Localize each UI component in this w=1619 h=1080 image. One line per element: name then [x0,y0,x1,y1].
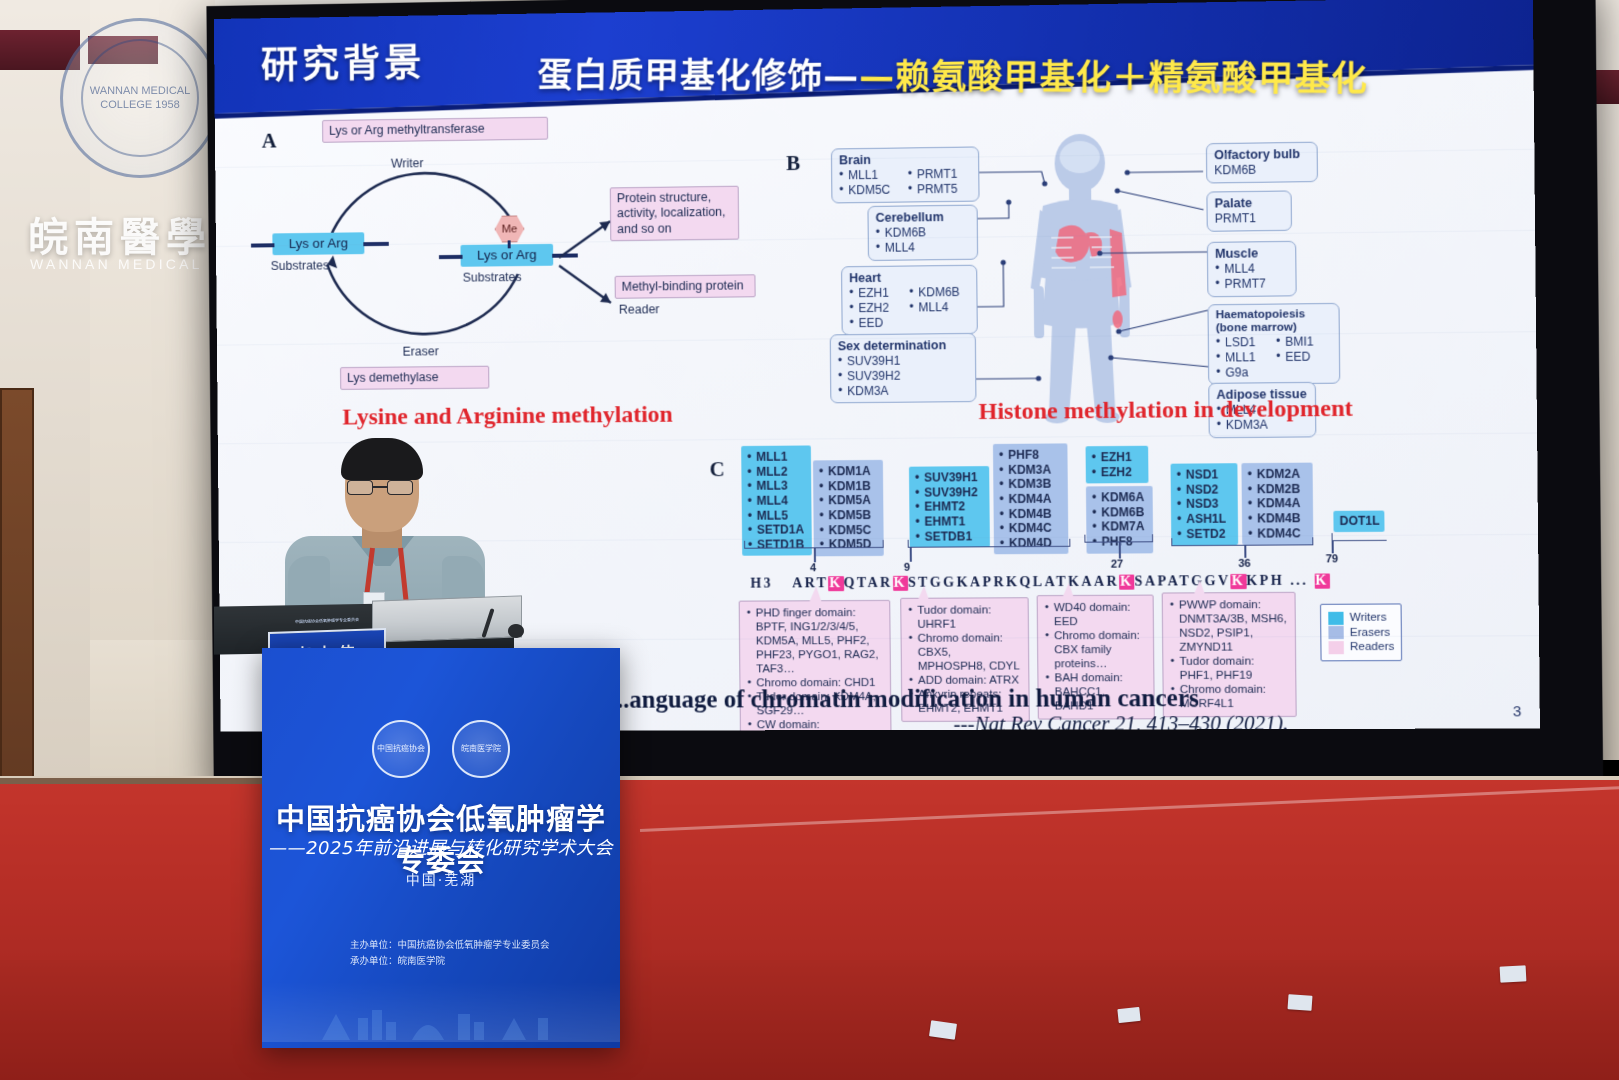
gene: SUV39H1 [915,470,983,485]
residue-bracket-36 [1171,537,1313,546]
residue-tick-4 [814,548,816,562]
conference-location: 中国·芜湖 [262,870,620,890]
gene: ASH1L [1177,511,1232,526]
floor-paper [929,1020,957,1039]
legend-swatch-erasers [1328,626,1343,639]
slide-title: 蛋白质甲基化修饰——赖氨酸甲基化＋精氨酸甲基化 [537,47,1368,102]
gene: NSD3 [1177,497,1232,512]
tissue-gene: G9a [1216,365,1276,380]
gene: KDM4B [1000,506,1063,521]
gene: KDM4B [1248,511,1307,526]
gene: EZH2 [1092,465,1143,480]
legend-row-erasers: Erasers [1328,626,1394,639]
wannan-college-logo: 皖南医学院 [452,720,510,778]
gene: MLL4 [748,493,806,508]
conference-credits: 主办单位：中国抗癌协会低氧肿瘤学专业委员会 承办单位：皖南医学院 [350,938,550,970]
panel-a-eraser-box: Lys demethylase [340,366,489,390]
gene-list: SUV39H1 SUV39H2 EHMT2 EHMT1 SETDB1 [915,470,984,544]
gene: EHMT1 [915,514,983,529]
slide-title-white: 蛋白质甲基化修饰— [537,56,859,97]
legend-label-readers: Readers [1350,641,1394,653]
panel-b-tissue-brain: Brain MLL1 KDM5C PRMT1 PRMT5 [831,146,980,203]
tissue-gene: MLL4 [876,240,970,256]
tissue-gene: MLL1 [839,168,908,184]
floor-paper [1500,965,1527,982]
tissue-gene: MLL4 [909,300,969,315]
tissue-name: Haematopoiesis (bone marrow) [1216,308,1332,336]
panel-c-letter: C [709,457,724,482]
host-line: 主办单位：中国抗癌协会低氧肿瘤学专业委员会 [350,938,550,954]
gene: NSD2 [1177,482,1232,497]
gene: KDM1B [819,479,877,494]
slide-page-number: 3 [1513,703,1522,720]
tissue-gene: LSD1 [1216,335,1276,350]
panel-b-tissue-haematopoiesis: Haematopoiesis (bone marrow) LSD1 MLL1 G… [1207,303,1340,385]
residue-number-4: 4 [810,562,816,574]
panel-b-tissue-olfactory-bulb: Olfactory bulb KDM6B [1206,142,1318,184]
panel-b-tissue-cerebellum: Cerebellum KDM6B MLL4 [867,205,978,261]
gene: SETD1A [748,523,806,538]
tissue-gene: SUV39H1 [838,353,968,369]
gene: EZH1 [1092,450,1143,465]
slide-footer-citation: ---Nat Rev Cancer 21, 413–430 (2021). [953,711,1288,732]
gene: SUV39H2 [915,485,983,500]
reader-box-pointers [731,582,1335,609]
residue-number-79: 79 [1326,553,1339,565]
panel-b-tissue-sex-determination: Sex determination SUV39H1 SUV39H2 KDM3A [830,333,977,404]
panel-a-caption: Lysine and Arginine methylation [342,402,673,432]
tissue-gene: EED [850,315,910,330]
gene: MLL3 [747,479,805,494]
panel-a-outcome-box: Protein structure, activity, localizatio… [610,186,739,241]
tissue-gene: KDM6B [909,285,969,300]
panel-a-reader-box: Methyl-binding protein [615,274,756,299]
legend-swatch-readers [1329,641,1344,654]
residue-bracket-9 [908,539,1071,548]
tissue-name: Brain [839,152,971,169]
panel-a-substrate-left-caption: Substrates [271,258,329,273]
podium-banner: 中国抗癌协会 皖南医学院 中国抗癌协会低氧肿瘤学专委会 ——2025年前沿进展与… [262,648,620,1048]
tissue-name: Palate [1215,196,1284,212]
legend-row-writers: Writers [1328,611,1394,624]
stage-front [0,960,1619,1080]
gene: KDM7A [1092,519,1147,534]
legend-swatch-writers [1328,611,1343,624]
slide-section-label: 研究背景 [261,31,426,88]
panel-a-writer-box: Lys or Arg methyltransferase [322,117,548,143]
slide-footer-title: ...anguage of chromatin modification in … [611,685,1199,715]
gene: KDM5C [820,522,878,537]
panel-b-tissue-palate: Palate PRMT1 [1206,190,1292,231]
panel-c-group-4: EZH1 EZH2 [1086,446,1149,484]
tissue-gene: SUV39H2 [838,368,968,384]
tissue-gene: KDM6B [1214,162,1310,178]
tissue-gene: PRMT1 [908,167,972,183]
tissue-gene: MLL4 [1215,261,1288,277]
tissue-gene: KDM5C [839,182,908,198]
panel-a-substrate-right-caption: Substrates [463,270,522,285]
gene: MLL2 [747,464,805,479]
tissue-gene: PRMT7 [1215,276,1288,292]
tissue-name: Cerebellum [875,210,969,226]
floor-paper [1117,1007,1140,1023]
gene: NSD1 [1177,467,1232,482]
gene-list: PHF8 KDM3A KDM3B KDM4A KDM4B KDM4C KDM4D [999,447,1062,550]
gene: MLL5 [748,508,806,523]
domain-entry: Chromo domain: CBX family proteins… [1045,629,1146,672]
panel-a-reader-label: Reader [619,302,660,316]
gene-list: NSD1 NSD2 NSD3 ASH1L SETD2 [1177,467,1232,541]
domain-entry: Tudor domain: PHF1, PHF19 [1170,654,1288,683]
tissue-name: Muscle [1215,246,1288,262]
tissue-gene: EZH2 [849,300,909,315]
gene: KDM6B [1092,505,1147,520]
legend-label-writers: Writers [1350,612,1387,624]
gene: KDM5B [819,508,877,523]
gene: PHF8 [999,447,1061,462]
residue-number-27: 27 [1111,559,1123,571]
panel-a-right-stub [439,255,463,259]
gene: KDM1A [819,464,877,479]
legend-row-readers: Readers [1329,640,1395,653]
speaker-glasses-icon [347,480,413,496]
gene-list: EZH1 EZH2 [1092,450,1143,480]
tissue-name: Sex determination [838,338,968,355]
panel-c-legend: Writers Erasers Readers [1320,603,1403,661]
domain-entry: PHD finger domain: BPTF, ING1/2/3/4/5, K… [747,606,883,677]
gene: KDM4A [1248,496,1307,511]
tissue-gene: PRMT5 [908,181,972,196]
residue-number-9: 9 [904,562,910,574]
residue-tick-79 [1332,541,1334,553]
panel-c-group-2: SUV39H1 SUV39H2 EHMT2 EHMT1 SETDB1 [909,466,990,548]
microphone-head [508,624,524,638]
panel-b-tissue-muscle: Muscle MLL4 PRMT7 [1207,241,1297,297]
panel-b-caption: Histone methylation in development [978,396,1352,426]
tissue-gene: EZH1 [849,286,909,301]
tissue-gene: KDM3A [838,383,968,399]
podium-logos: 中国抗癌协会 皖南医学院 [262,720,620,778]
organizer-line: 承办单位：皖南医学院 [350,954,550,970]
gene: KDM3A [999,462,1062,477]
gene: KDM6A [1092,490,1147,505]
gene: KDM5A [819,493,877,508]
domain-entry: CW domain: ZCWPW1… [748,718,884,731]
tissue-gene: EED [1276,349,1332,364]
gene: KDM2A [1248,467,1307,482]
gene-list: KDM2A KDM2B KDM4A KDM4B KDM4C [1248,467,1308,541]
gene: KDM2B [1248,481,1307,496]
gene: EHMT2 [915,499,983,514]
panel-c-group-6: NSD1 NSD2 NSD3 ASH1L SETD2 [1171,463,1239,545]
panel-a-eraser-label: Eraser [403,344,439,358]
panel-b-tissue-heart: Heart EZH1 EZH2 EED KDM6B MLL4 [841,265,978,336]
laptop [372,595,522,642]
gene: KDM3B [999,477,1062,492]
cancer-association-logo: 中国抗癌协会 [372,720,430,778]
tissue-gene: MLL1 [1216,350,1276,365]
gene-list: MLL1 MLL2 MLL3 MLL4 MLL5 SETD1A SETD1B [747,450,806,553]
residue-tick-27 [1119,542,1121,558]
tissue-gene: PRMT1 [1215,211,1284,227]
panel-c-group-8: DOT1L [1333,511,1384,532]
residue-tick-9 [910,548,912,562]
panel-c-group-7: KDM2A KDM2B KDM4A KDM4B KDM4C [1241,463,1313,545]
gene: MLL1 [747,450,805,465]
podium-glow [262,982,620,1042]
tissue-gene: BMI1 [1276,335,1332,350]
gene: KDM4A [999,492,1062,507]
gene: KDM4C [1000,521,1063,536]
tissue-name: Olfactory bulb [1214,147,1310,164]
slide-title-yellow: —赖氨酸甲基化＋精氨酸甲基化 [859,57,1368,100]
conference-subtitle: ——2025年前沿进展与转化研究学术大会 [262,834,620,860]
floor-paper [1288,994,1313,1011]
residue-tick-36 [1244,546,1246,558]
residue-number-36: 36 [1238,558,1251,570]
